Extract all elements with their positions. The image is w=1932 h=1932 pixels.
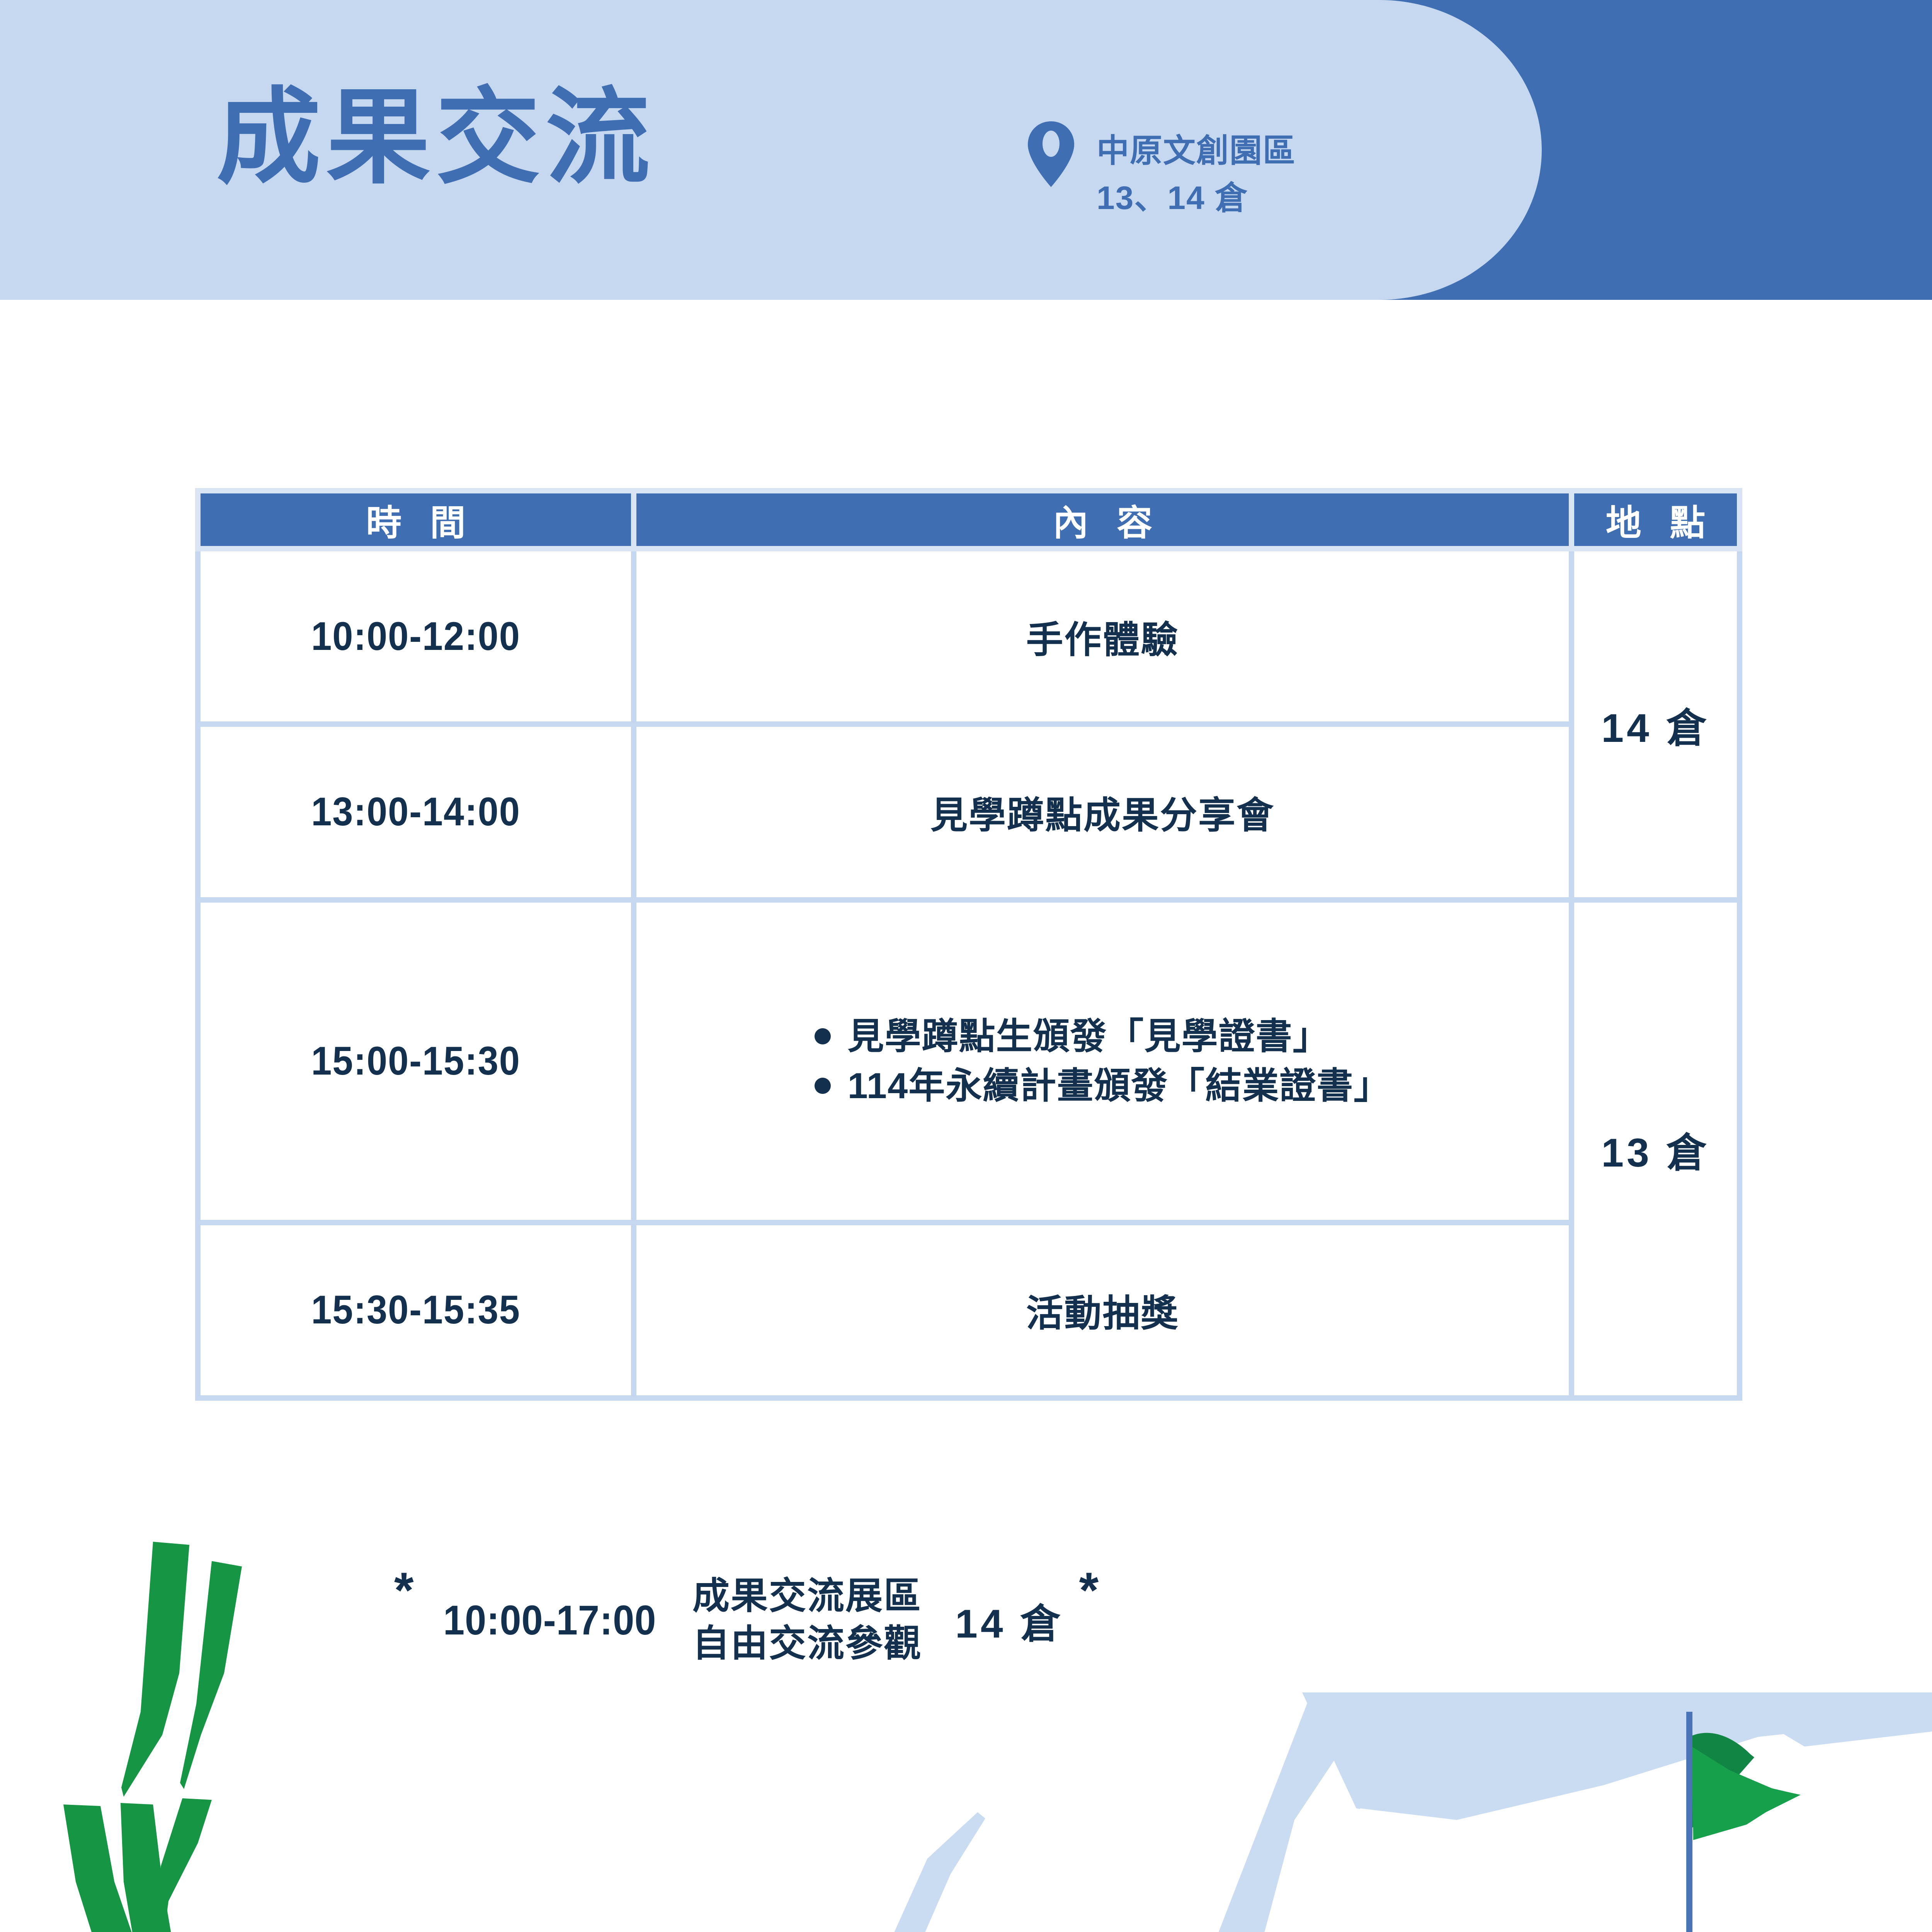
grass-blades-icon <box>46 1480 325 1932</box>
table-row: 13:00-14:00 見學蹲點成果分享會 <box>198 724 1740 900</box>
bullet-dot-icon <box>815 1028 831 1044</box>
footnote-description: 成果交流展區 自由交流參觀 <box>692 1573 922 1668</box>
bullet-dot-icon <box>815 1078 831 1094</box>
column-header-place: 地 點 <box>1571 491 1740 549</box>
footnote: * 10:00-17:00 成果交流展區 自由交流參觀 14 倉 * <box>394 1573 1099 1668</box>
bullet-list: 見學蹲點生頒發「見學證書」 114年永續計畫頒發「結業證書」 <box>815 1005 1391 1117</box>
cell-time: 13:00-14:00 <box>215 724 616 900</box>
location-line-1: 中原文創園區 <box>1097 128 1296 175</box>
table-header-row: 時 間 內 容 地 點 <box>198 491 1740 549</box>
cell-content: 手作體驗 <box>634 549 1571 724</box>
header-location: 中原文創園區 13、14 倉 <box>1028 128 1296 222</box>
location-line-2: 13、14 倉 <box>1097 175 1296 222</box>
footnote-desc-line-1: 成果交流展區 <box>692 1573 922 1620</box>
asterisk-left: * <box>394 1565 414 1615</box>
cell-time: 10:00-12:00 <box>215 549 616 724</box>
schedule-table: 時 間 內 容 地 點 10:00-12:00 手作體驗 14 倉 13:00-… <box>195 488 1742 1401</box>
header-location-text: 中原文創園區 13、14 倉 <box>1097 128 1296 222</box>
column-header-content: 內 容 <box>634 491 1571 549</box>
table-row: 15:00-15:30 見學蹲點生頒發「見學證書」 114年永續計畫頒發「結業證… <box>198 900 1740 1223</box>
bullet-text: 114年永續計畫頒發「結業證書」 <box>848 1068 1391 1104</box>
list-item: 見學蹲點生頒發「見學證書」 <box>815 1018 1391 1054</box>
bullet-text: 見學蹲點生頒發「見學證書」 <box>848 1018 1330 1054</box>
cell-content-bullets: 見學蹲點生頒發「見學證書」 114年永續計畫頒發「結業證書」 <box>634 900 1571 1223</box>
cell-time: 15:00-15:30 <box>215 900 616 1223</box>
asterisk-right: * <box>1079 1565 1099 1615</box>
cell-content: 活動抽獎 <box>634 1223 1571 1398</box>
list-item: 114年永續計畫頒發「結業證書」 <box>815 1068 1391 1104</box>
footnote-time: 10:00-17:00 <box>443 1596 656 1644</box>
column-header-time: 時 間 <box>198 491 634 549</box>
cell-content: 見學蹲點成果分享會 <box>634 724 1571 900</box>
cell-time: 15:30-15:35 <box>215 1223 616 1398</box>
cell-place: 13 倉 <box>1571 900 1740 1398</box>
table-row: 10:00-12:00 手作體驗 14 倉 <box>198 549 1740 724</box>
footnote-place: 14 倉 <box>955 1591 1064 1649</box>
footnote-desc-line-2: 自由交流參觀 <box>692 1620 922 1668</box>
table-row: 15:30-15:35 活動抽獎 <box>198 1223 1740 1398</box>
flag-icon <box>1634 1712 1851 1932</box>
header-band: 成果交流 中原文創園區 13、14 倉 <box>0 0 1932 300</box>
map-pin-icon <box>1028 121 1074 189</box>
page-title: 成果交流 <box>216 86 655 190</box>
cell-place: 14 倉 <box>1571 549 1740 900</box>
